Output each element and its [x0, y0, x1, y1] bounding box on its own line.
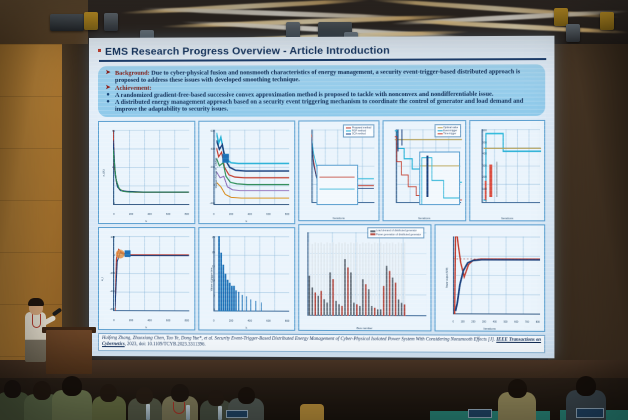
speaker-hair	[28, 298, 44, 306]
attendee-head	[576, 376, 596, 396]
background-text: Due to cyber-physical fusion and nonsmoo…	[115, 68, 520, 84]
chart-legend: Proposed method RGF method SCA method	[343, 124, 374, 138]
attendee-head	[508, 379, 527, 398]
podium	[46, 330, 92, 374]
summary-callout: ➤ Background: Due to cyber-physical fusi…	[98, 64, 545, 117]
figure-error: 2000-200-400-600 0200400600800 e_i k	[98, 227, 195, 331]
title-divider	[99, 58, 546, 62]
conference-hall-scene: EMS Research Progress Overview - Article…	[0, 0, 628, 420]
x-axis-ticks: 0200400600800	[113, 213, 189, 216]
wood-panel-right	[548, 44, 628, 366]
stage-light	[566, 24, 580, 42]
x-axis-ticks: 0200400600800	[113, 319, 189, 322]
x-axis-ticks: 0200400600800	[213, 320, 289, 323]
audience-area	[0, 378, 628, 420]
figure-method-comparison: Proposed method RGF method SCA method	[298, 120, 379, 221]
attendee-head	[62, 376, 82, 396]
x-axis-label: k	[199, 219, 294, 223]
speaker-lanyard	[32, 314, 41, 328]
stage-light	[554, 8, 568, 26]
water-bottle	[218, 406, 222, 420]
stage-light	[600, 12, 614, 30]
attendee-head	[100, 384, 117, 402]
chart-legend: Optimal value Event-trigger Time-trigger	[434, 124, 461, 138]
name-plate	[226, 410, 248, 418]
figure-convergence: 50250 0200400600800 x_i(k) k	[98, 121, 195, 224]
name-plate	[576, 408, 604, 418]
x-axis-ticks: 0200400600800	[213, 213, 289, 216]
y-axis-label: Output Power P_i (MW)	[213, 157, 217, 188]
x-axis-label: k	[199, 326, 294, 330]
figure-grid: 50250 0200400600800 x_i(k) k	[98, 120, 545, 332]
water-bottle	[186, 405, 190, 420]
x-axis-label: Iterations	[383, 217, 465, 221]
chart-legend: Load demand of distributed generator Pow…	[367, 228, 424, 238]
y-axis-ticks: 6005004003002001000	[478, 129, 487, 203]
y-axis-label: Values of trigger time	[210, 267, 213, 291]
name-plate	[468, 409, 492, 418]
presentation-slide: EMS Research Progress Overview - Article…	[89, 36, 554, 359]
figure-staircase-trigger: Optimal value Event-trigger Time-trigger	[382, 120, 466, 222]
x-axis-label: k	[99, 219, 194, 223]
citation-tail: , 2023, doi: 10.1109/TCYB.2023.3311396.	[125, 342, 206, 347]
x-axis-label: k	[99, 325, 194, 329]
stage-light	[84, 12, 98, 30]
arrow-bullet-icon: ➤	[105, 85, 111, 92]
chart-inset	[419, 151, 460, 205]
attendee-head	[4, 380, 21, 398]
figure-output-power: 6004002000-200 0200400600800 Output Powe…	[198, 121, 295, 225]
wall-pillar	[62, 44, 88, 366]
x-axis-label: Iterations	[435, 327, 544, 331]
y-axis-ticks: 50250	[106, 130, 115, 205]
x-axis-label: Iterations	[470, 217, 544, 221]
projection-screen: EMS Research Progress Overview - Article…	[89, 36, 554, 359]
background-line: ➤ Background: Due to cyber-physical fusi…	[105, 68, 538, 84]
slide-title-row: EMS Research Progress Overview - Article…	[98, 44, 545, 58]
stage-light	[50, 14, 84, 31]
round-bullet-icon: ●	[105, 92, 111, 99]
figure-column-right: Proposed method RGF method SCA method	[298, 120, 545, 332]
x-axis-label: Bus number	[299, 326, 430, 331]
chart-inset	[317, 165, 358, 205]
round-bullet-icon: ●	[105, 99, 111, 106]
attendee-head	[136, 387, 153, 404]
attendee-lanyard	[173, 402, 185, 414]
y-axis-ticks: 2000-200-400-600	[106, 236, 115, 311]
y-axis-label: x_i(k)	[102, 169, 106, 176]
y-axis-label: Power output (MW)	[445, 268, 448, 289]
y-axis-label: e_i	[100, 277, 104, 281]
figure-step-events: 6005004003002001000 Iterations	[469, 120, 545, 222]
title-bullet-icon	[98, 48, 101, 51]
stage-light	[104, 13, 118, 31]
figure-trigger-times: 2520151050 0200400600800 Values of trigg…	[198, 227, 295, 331]
page-title: EMS Research Progress Overview - Article…	[105, 45, 390, 58]
achievement-item: ● A distributed energy management approa…	[105, 98, 538, 113]
attendee-head	[171, 384, 189, 402]
x-axis-ticks: 0100200300400500600700800	[453, 322, 540, 324]
attendee-head	[33, 381, 51, 400]
figure-load-generation-bars: Load demand of distributed generator Pow…	[298, 225, 431, 332]
attendee-head	[208, 390, 224, 406]
citation-box: Huifeng Zhang, Zhuoxiang Chen, Tao Ye, D…	[98, 333, 545, 353]
x-axis-label: Iterations	[299, 217, 378, 221]
water-bottle	[146, 404, 150, 420]
attendee-head	[238, 387, 255, 404]
figure-column-left: 50250 0200400600800 x_i(k) k	[98, 121, 295, 332]
chair	[300, 404, 324, 420]
figure-step-response: 0100200300400500600700800 Power output (…	[434, 225, 545, 332]
achievement-text: A distributed energy management approach…	[115, 98, 538, 113]
arrow-bullet-icon: ➤	[105, 70, 111, 77]
